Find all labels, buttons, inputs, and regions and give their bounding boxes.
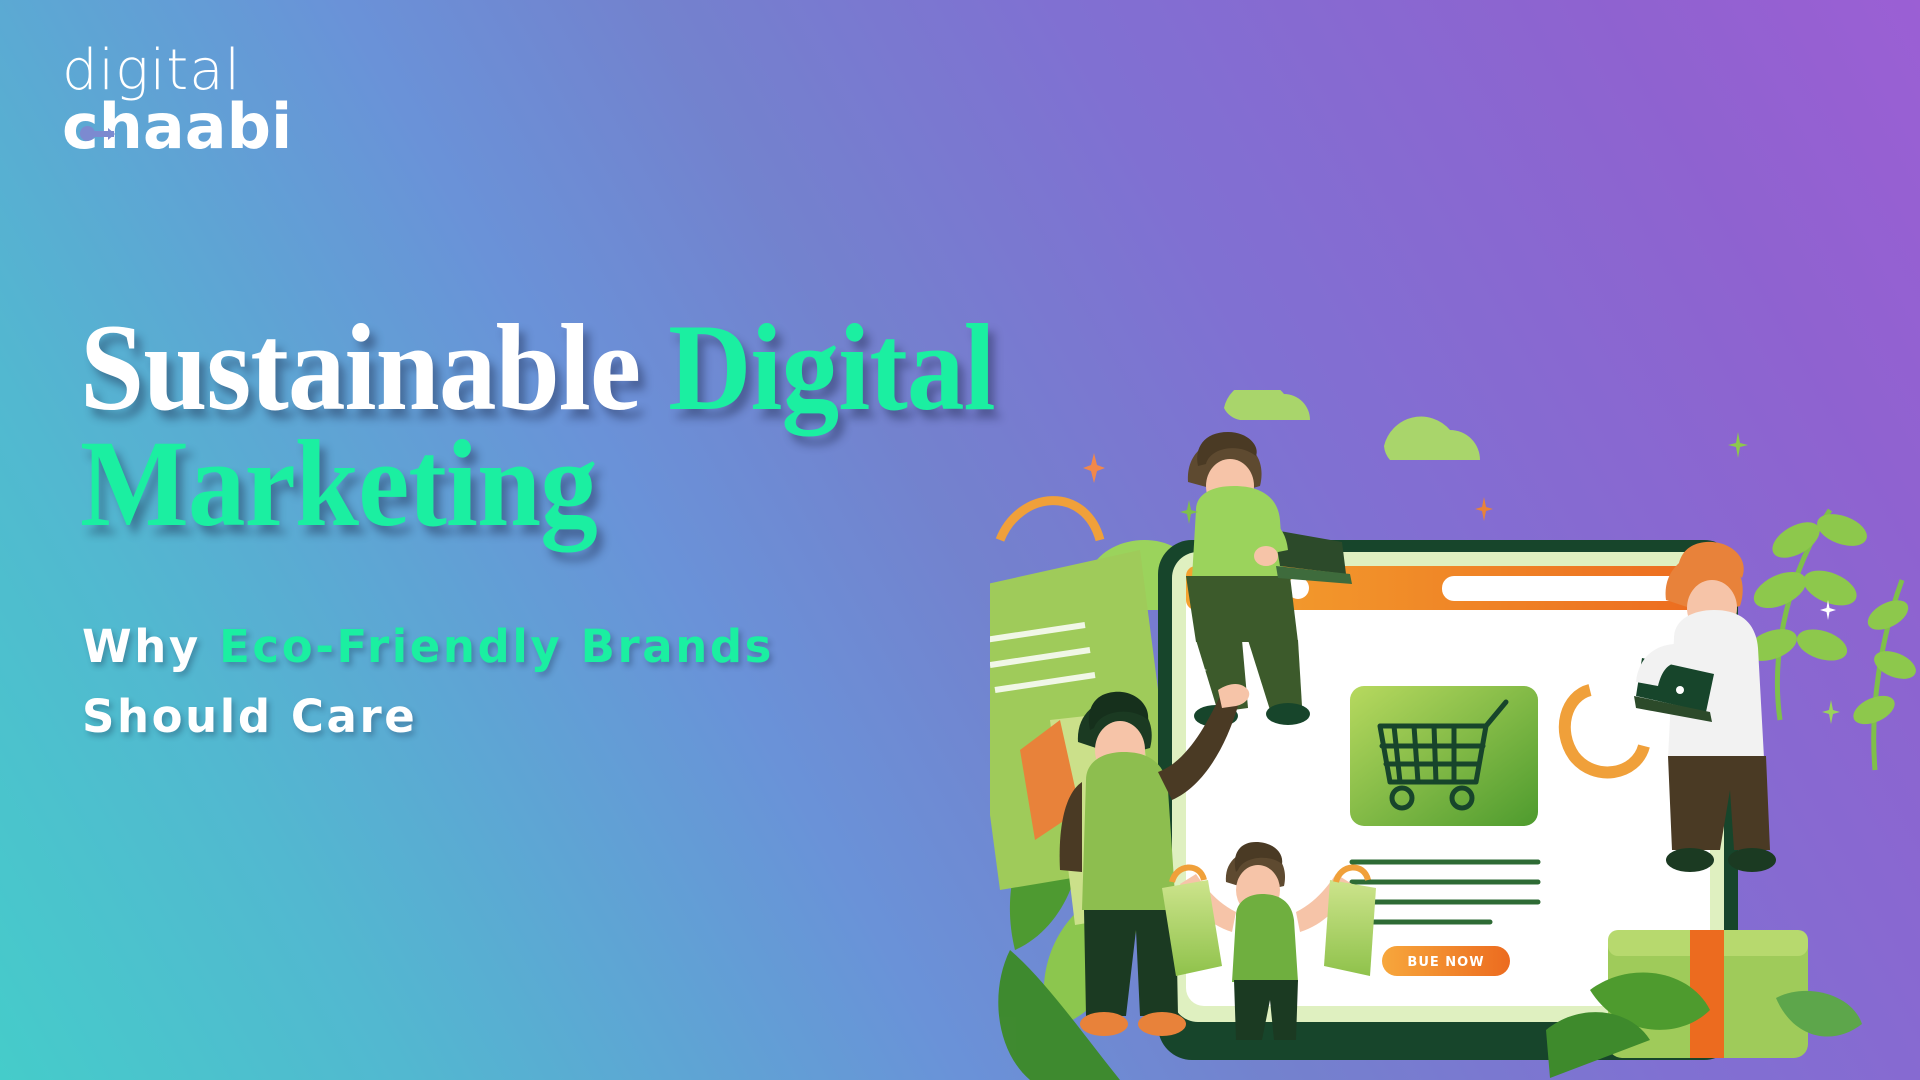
subtitle-word-why: Why: [82, 620, 201, 673]
browser-search-pill: [1442, 576, 1690, 601]
promo-banner: digital chaabi Sustainable Digital Marke…: [0, 0, 1920, 1080]
buy-now-label: BUE NOW: [1407, 955, 1484, 970]
subtitle-phrase-should-care: Should Care: [82, 690, 417, 743]
headline-line-1: Sustainable Digital: [80, 310, 1066, 426]
brand-logo[interactable]: digital chaabi: [62, 42, 362, 158]
ecommerce-illustration: BUE NOW: [990, 390, 1920, 1080]
sparkle-icon: [1728, 432, 1748, 458]
cloud-shape: [1224, 390, 1480, 460]
subtitle-phrase-eco-friendly-brands: Eco-Friendly Brands: [219, 620, 774, 673]
logo-text-chaabi: chaabi: [62, 96, 362, 158]
subtitle: Why Eco-Friendly Brands Should Care: [82, 612, 1042, 752]
key-icon: [80, 126, 114, 141]
headline-line-2: Marketing: [80, 426, 1066, 542]
sparkle-icon: [1180, 500, 1198, 524]
sparkle-icon: [1193, 661, 1207, 679]
headline-word-digital: Digital: [668, 299, 995, 436]
sparkle-icon: [1822, 700, 1840, 724]
product-card: [1350, 686, 1538, 826]
headline-word-marketing: Marketing: [80, 415, 597, 552]
subtitle-line-1: Why Eco-Friendly Brands: [82, 612, 1042, 682]
buy-now-button: BUE NOW: [1382, 946, 1510, 976]
sparkle-icon: [1820, 600, 1836, 620]
headline: Sustainable Digital Marketing: [80, 310, 1140, 542]
sparkle-icon: [1475, 497, 1493, 521]
sparkle-icon: [1083, 453, 1105, 483]
subtitle-line-2: Should Care: [82, 682, 1042, 752]
